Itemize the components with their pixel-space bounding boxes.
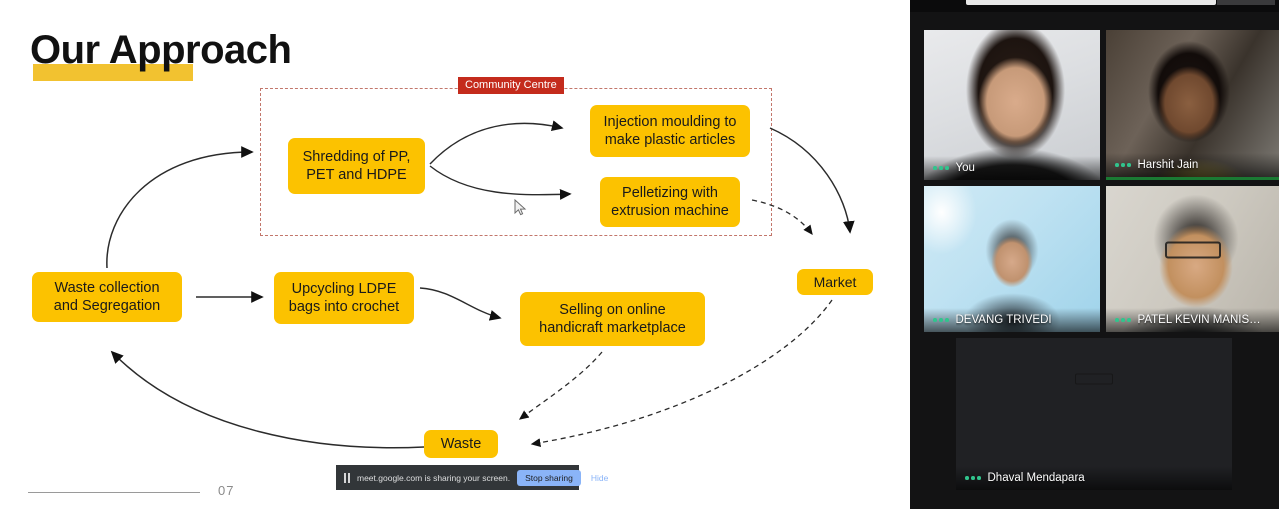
- participant-name: Dhaval Mendapara: [988, 472, 1085, 484]
- node-selling-line1: Selling on online: [559, 302, 665, 318]
- node-market: Market: [797, 269, 873, 295]
- node-pelletizing: Pelletizing with extrusion machine: [600, 177, 740, 227]
- node-injection-line1: Injection moulding to: [604, 114, 737, 130]
- glasses-icon: [1075, 374, 1113, 385]
- node-pelletizing-line1: Pelletizing with: [622, 185, 718, 201]
- node-selling-line2: handicraft marketplace: [539, 320, 686, 336]
- page-title: Our Approach: [30, 28, 291, 73]
- node-upcycling-line2: bags into crochet: [289, 299, 399, 315]
- mouse-cursor: [514, 199, 528, 217]
- participant-name: Harshit Jain: [1138, 159, 1199, 171]
- more-options-icon[interactable]: [933, 318, 949, 322]
- node-shredding: Shredding of PP, PET and HDPE: [288, 138, 425, 194]
- node-waste-collection-line2: and Segregation: [54, 298, 160, 314]
- participant-name: PATEL KEVIN MANISHK…: [1138, 314, 1268, 326]
- participant-namebar-devang-trivedi: DEVANG TRIVEDI: [924, 308, 1100, 332]
- node-injection-line2: make plastic articles: [605, 132, 736, 148]
- node-upcycling-line1: Upcycling LDPE: [292, 281, 397, 297]
- window-controls[interactable]: [1217, 0, 1275, 5]
- participant-tile-you[interactable]: You: [924, 30, 1100, 180]
- node-upcycling: Upcycling LDPE bags into crochet: [274, 272, 414, 324]
- node-waste-collection-line1: Waste collection: [54, 280, 159, 296]
- hide-button[interactable]: Hide: [588, 473, 608, 483]
- screen: Our Approach: [0, 0, 1279, 509]
- participant-tile-harshit-jain[interactable]: Harshit Jain: [1106, 30, 1279, 180]
- screen-share-bar: meet.google.com is sharing your screen. …: [336, 465, 579, 490]
- more-options-icon[interactable]: [933, 166, 949, 170]
- participant-name: You: [956, 162, 975, 174]
- participant-namebar-you: You: [924, 156, 1100, 180]
- participant-tile-devang-trivedi[interactable]: DEVANG TRIVEDI: [924, 186, 1100, 332]
- participant-namebar-dhaval-mendapara: Dhaval Mendapara: [956, 466, 1232, 490]
- community-centre-label: Community Centre: [458, 77, 564, 94]
- more-options-icon[interactable]: [1115, 163, 1131, 167]
- glasses-icon: [1165, 242, 1221, 259]
- participant-namebar-patel-kevin: PATEL KEVIN MANISHK…: [1106, 308, 1279, 332]
- node-shredding-line1: Shredding of PP,: [303, 149, 411, 165]
- node-shredding-line2: PET and HDPE: [306, 167, 406, 183]
- node-waste-collection: Waste collection and Segregation: [32, 272, 182, 322]
- meet-participants-panel: You Harshit Jain DEVANG TRIVEDI PATEL: [910, 0, 1279, 509]
- node-pelletizing-line2: extrusion machine: [611, 203, 729, 219]
- pause-icon[interactable]: [344, 473, 350, 483]
- share-status-text: meet.google.com is sharing your screen.: [357, 473, 510, 483]
- window-titlebar-strip: [966, 0, 1216, 5]
- participant-tile-patel-kevin[interactable]: PATEL KEVIN MANISHK…: [1106, 186, 1279, 332]
- browser-window-strip: [910, 0, 1279, 12]
- participant-tile-dhaval-mendapara[interactable]: Dhaval Mendapara: [956, 338, 1232, 490]
- participant-name: DEVANG TRIVEDI: [956, 314, 1052, 326]
- participant-namebar-harshit-jain: Harshit Jain: [1106, 153, 1279, 177]
- stop-sharing-button[interactable]: Stop sharing: [517, 470, 581, 486]
- more-options-icon[interactable]: [965, 476, 981, 480]
- shared-slide: Our Approach: [0, 0, 910, 509]
- node-selling-online: Selling on online handicraft marketplace: [520, 292, 705, 346]
- node-injection-moulding: Injection moulding to make plastic artic…: [590, 105, 750, 157]
- more-options-icon[interactable]: [1115, 318, 1131, 322]
- node-waste: Waste: [424, 430, 498, 458]
